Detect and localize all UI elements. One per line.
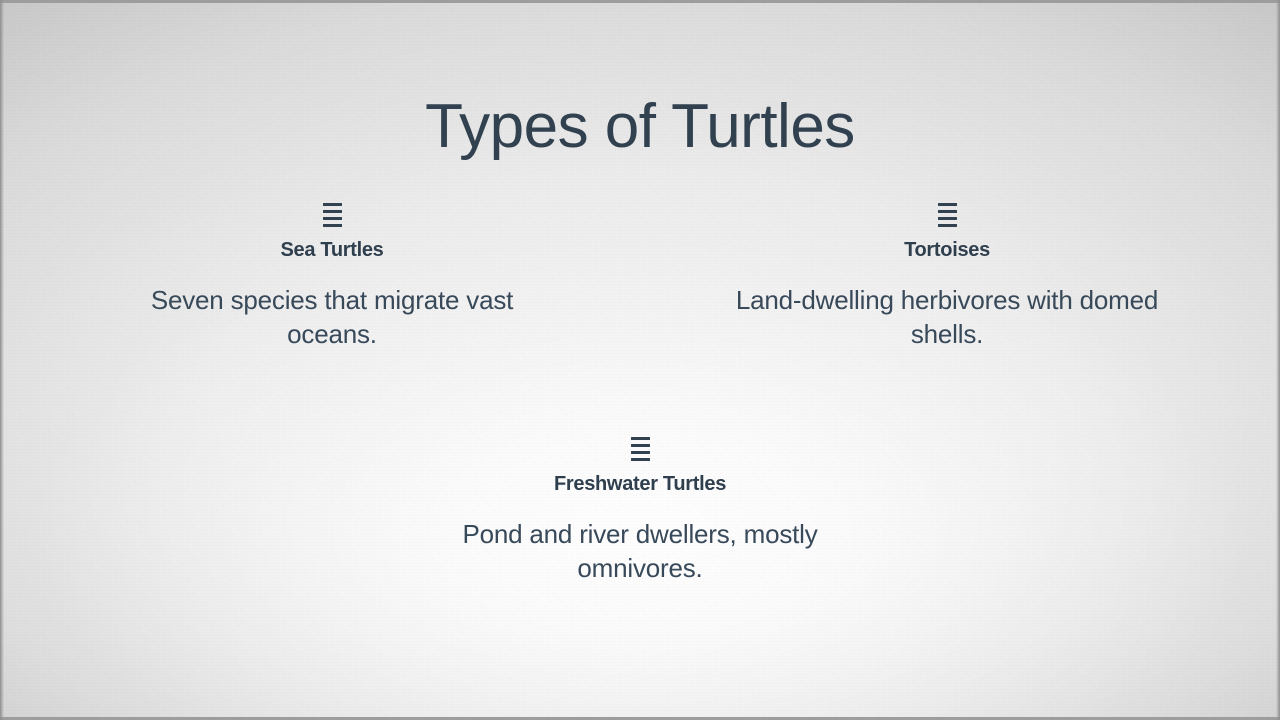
stacked-lines-icon (112, 200, 552, 230)
presentation-slide: Types of Turtles Sea Turtles Seven speci… (0, 0, 1280, 720)
slide-item-heading: Freshwater Turtles (420, 472, 860, 496)
slide-item-body: Seven species that migrate vast oceans. (112, 284, 552, 352)
stacked-lines-icon-bar (938, 210, 957, 213)
slide-item-freshwater-turtles: Freshwater Turtles Pond and river dwelle… (420, 434, 860, 586)
stacked-lines-icon-bar (938, 224, 957, 227)
stacked-lines-icon-bar (938, 203, 957, 206)
slide-item-heading: Sea Turtles (112, 238, 552, 262)
stacked-lines-icon-bar (323, 210, 342, 213)
slide-item-tortoises: Tortoises Land-dwelling herbivores with … (727, 200, 1167, 352)
stacked-lines-icon-bar (631, 437, 650, 440)
stacked-lines-icon-bar (631, 458, 650, 461)
slide-content: Types of Turtles Sea Turtles Seven speci… (0, 0, 1280, 720)
stacked-lines-icon (420, 434, 860, 464)
slide-item-sea-turtles: Sea Turtles Seven species that migrate v… (112, 200, 552, 352)
slide-item-body: Land-dwelling herbivores with domed shel… (727, 284, 1167, 352)
stacked-lines-icon-bar (323, 224, 342, 227)
slide-item-body: Pond and river dwellers, mostly omnivore… (420, 518, 860, 586)
stacked-lines-icon-bar (938, 217, 957, 220)
stacked-lines-icon-bar (323, 217, 342, 220)
stacked-lines-icon-bar (631, 451, 650, 454)
stacked-lines-icon-bar (323, 203, 342, 206)
slide-item-heading: Tortoises (727, 238, 1167, 262)
stacked-lines-icon (727, 200, 1167, 230)
stacked-lines-icon-bar (631, 444, 650, 447)
slide-title: Types of Turtles (0, 94, 1280, 159)
